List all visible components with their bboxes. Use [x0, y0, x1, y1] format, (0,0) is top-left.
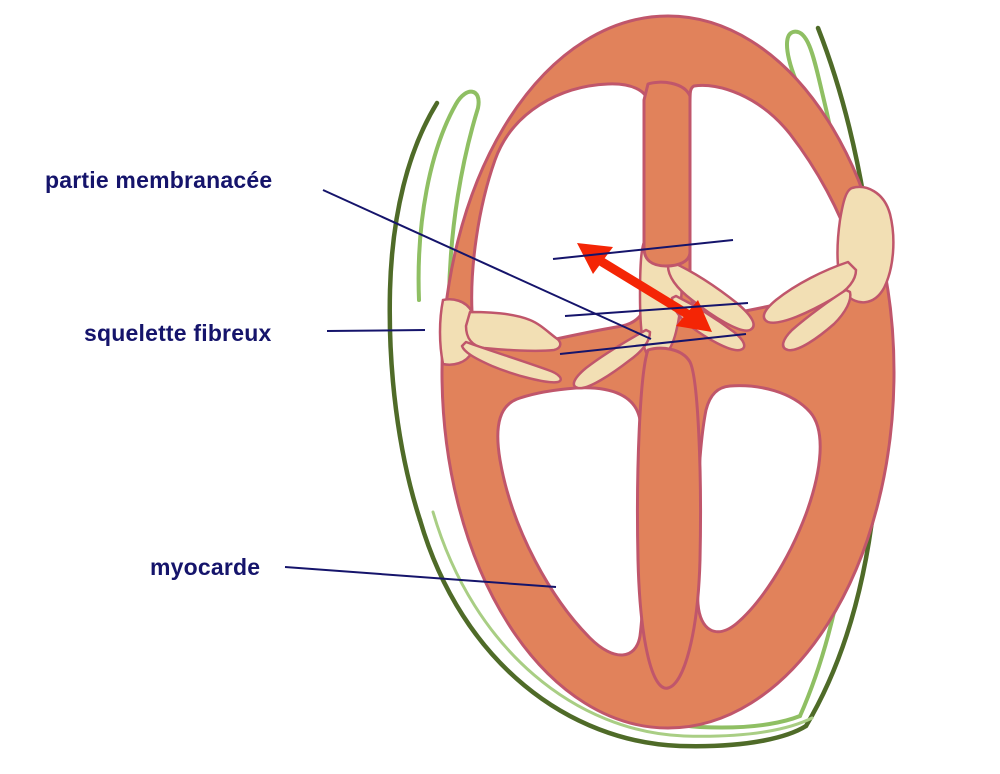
labels-group: partie membranacée squelette fibreux myo…	[45, 167, 272, 580]
figure-svg: partie membranacée squelette fibreux myo…	[0, 0, 1000, 774]
label-myocarde: myocarde	[150, 554, 260, 580]
chamber-upper-left	[472, 84, 648, 348]
label-squelette-fibreux: squelette fibreux	[84, 320, 271, 346]
label-partie-membranacee: partie membranacée	[45, 167, 272, 193]
pericardium-left-dark-line	[390, 103, 437, 520]
septum-group	[637, 82, 700, 688]
interatrial-septum	[644, 82, 690, 266]
heart-cross-section-diagram: partie membranacée squelette fibreux myo…	[0, 0, 1000, 774]
interventricular-septum	[637, 348, 700, 688]
leader-squelette-fibreux	[327, 330, 425, 331]
